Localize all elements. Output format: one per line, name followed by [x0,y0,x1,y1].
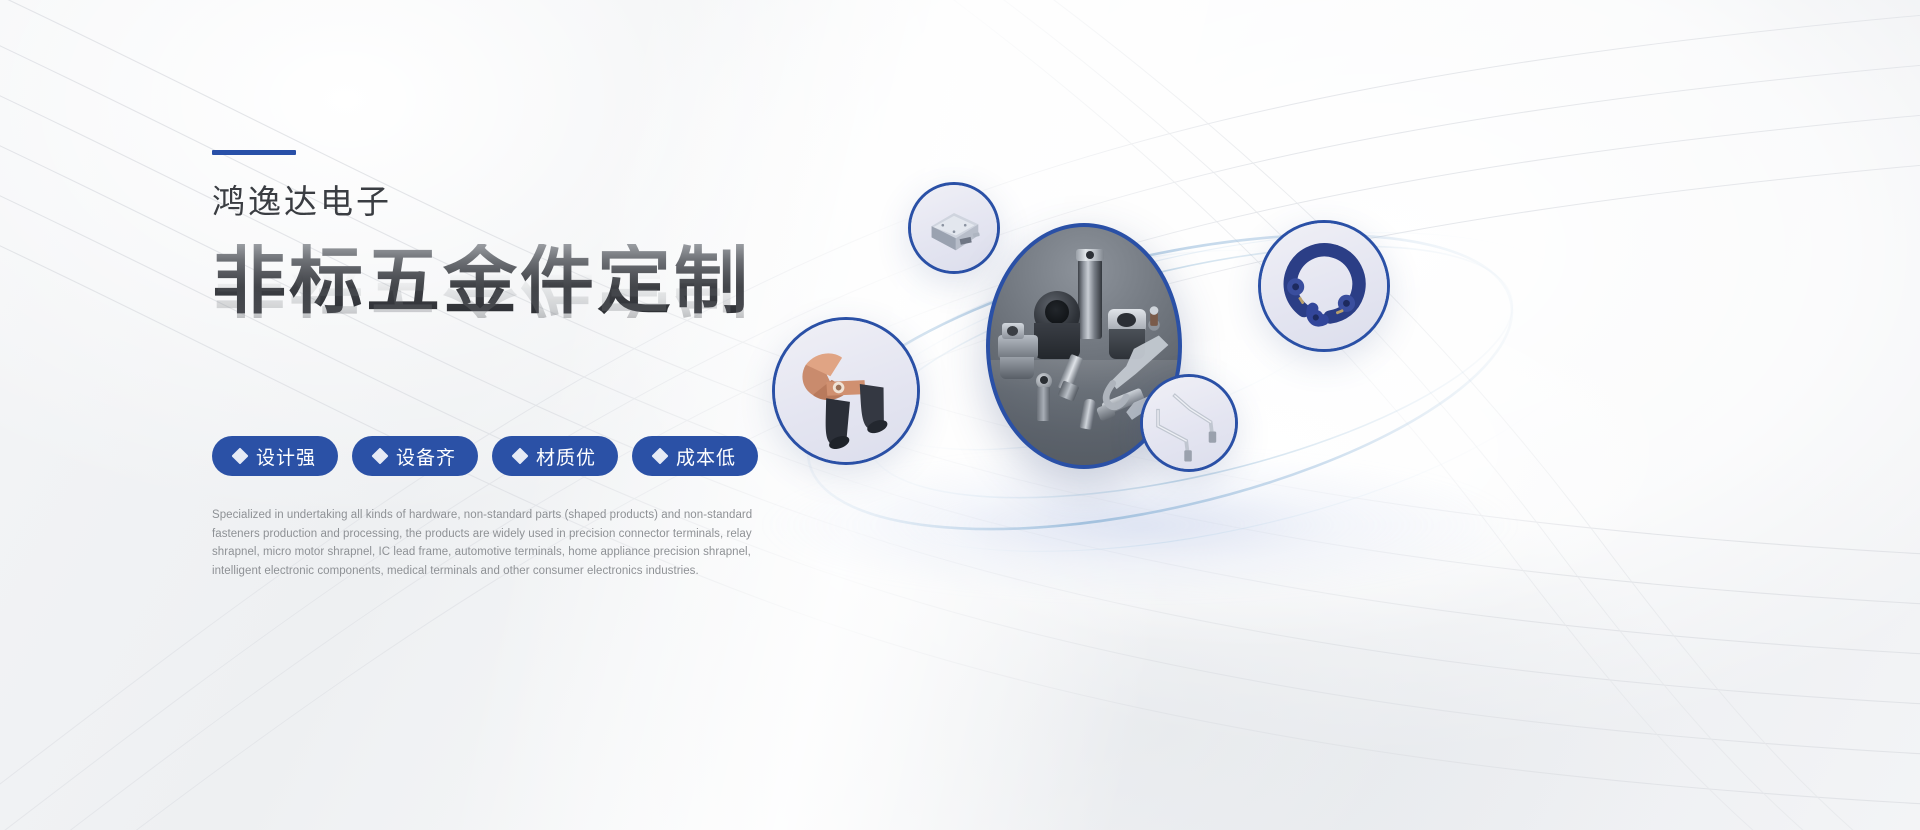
diamond-icon [512,448,529,465]
hero-banner: 鸿逸达电子 非标五金件定制 非标五金件定制 设计强 设备齐 材质优 成本低 [0,0,1920,830]
feature-pill-cost[interactable]: 成本低 [632,436,758,476]
feature-pill-design[interactable]: 设计强 [212,436,338,476]
accent-rule [212,150,296,155]
part-dark-ring-bore [1045,300,1069,324]
company-description: Specialized in undertaking all kinds of … [212,506,782,581]
part-socket-right-body [1109,329,1145,359]
brand-name: 鸿逸达电子 [212,185,832,218]
headline-block: 非标五金件定制 非标五金件定制 [212,244,832,318]
product-showcase [760,120,1850,640]
feature-pill-list: 设计强 设备齐 材质优 成本低 [212,436,832,476]
diamond-icon [652,448,669,465]
bubble-metal-enclosure-box[interactable] [908,182,1000,274]
part-cylinder-tall [1078,259,1102,321]
metal-enclosure-box-icon [911,185,997,271]
part-connector-left-base [1000,357,1034,379]
bubble-blue-retaining-clip[interactable] [1258,220,1390,352]
part-cylinder-hole [1086,251,1094,259]
hero-copy: 鸿逸达电子 非标五金件定制 非标五金件定制 设计强 设备齐 材质优 成本低 [212,150,832,581]
part-cylinder-base [1078,317,1102,339]
part-connector-left-bore [1007,326,1018,336]
copper-battery-clamp-icon [775,320,917,462]
feature-pill-label: 设计强 [256,443,316,470]
part-pin-bore [1040,376,1048,384]
feature-pill-material[interactable]: 材质优 [492,436,618,476]
part-pin-shaft [1037,387,1050,421]
bent-metal-pins-icon [1143,377,1235,469]
bubble-copper-battery-clamp[interactable] [772,317,920,465]
feature-pill-label: 成本低 [676,443,736,470]
blue-retaining-clip-icon [1261,223,1387,349]
feature-pill-label: 材质优 [536,443,596,470]
diamond-icon [372,448,389,465]
page-title: 非标五金件定制 [212,244,832,318]
bubble-bent-metal-pins[interactable] [1140,374,1238,472]
feature-pill-equipment[interactable]: 设备齐 [352,436,478,476]
part-dark-ring-body [1034,323,1080,359]
diamond-icon [232,448,249,465]
feature-pill-label: 设备齐 [396,443,456,470]
part-socket-right-bore [1117,313,1136,327]
